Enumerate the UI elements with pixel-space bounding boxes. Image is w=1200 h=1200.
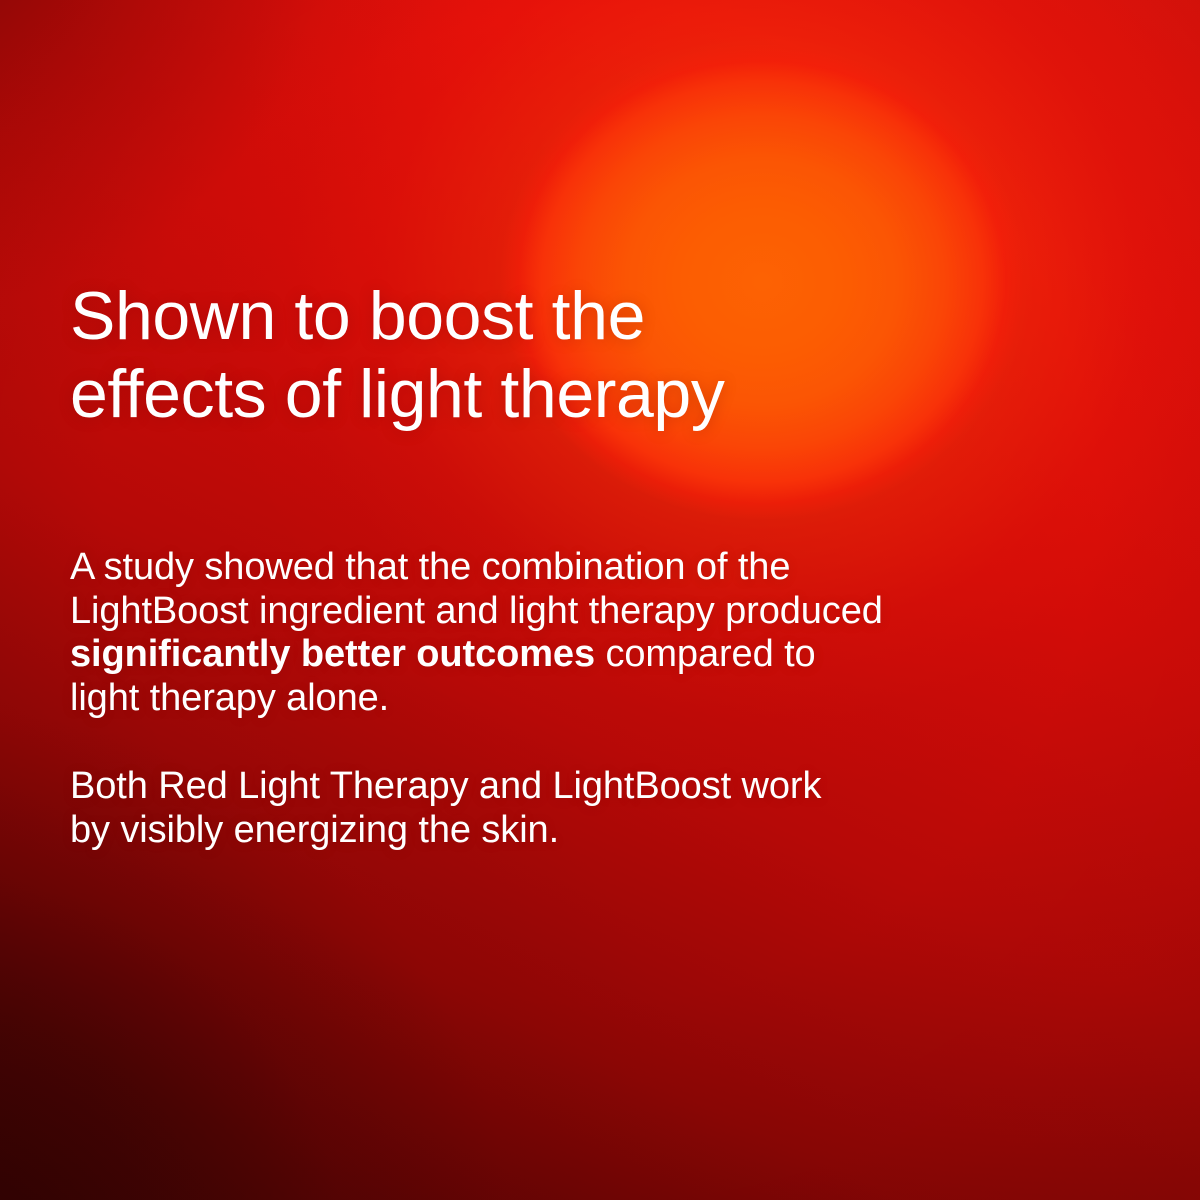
red-light-therapy-poster: Shown to boost the effects of light ther… [0,0,1200,1200]
paragraph-study-result-emphasis: significantly better outcomes [70,633,595,675]
paragraph-mechanism: Both Red Light Therapy and LightBoost wo… [70,765,970,852]
poster-body: A study showed that the combination of t… [70,546,970,852]
page-title: Shown to boost the effects of light ther… [70,277,724,433]
paragraph-study-result: A study showed that the combination of t… [70,546,970,720]
paragraph-study-result-lead: A study showed that the combination of t… [70,546,883,632]
poster-content: Shown to boost the effects of light ther… [0,0,1200,1200]
